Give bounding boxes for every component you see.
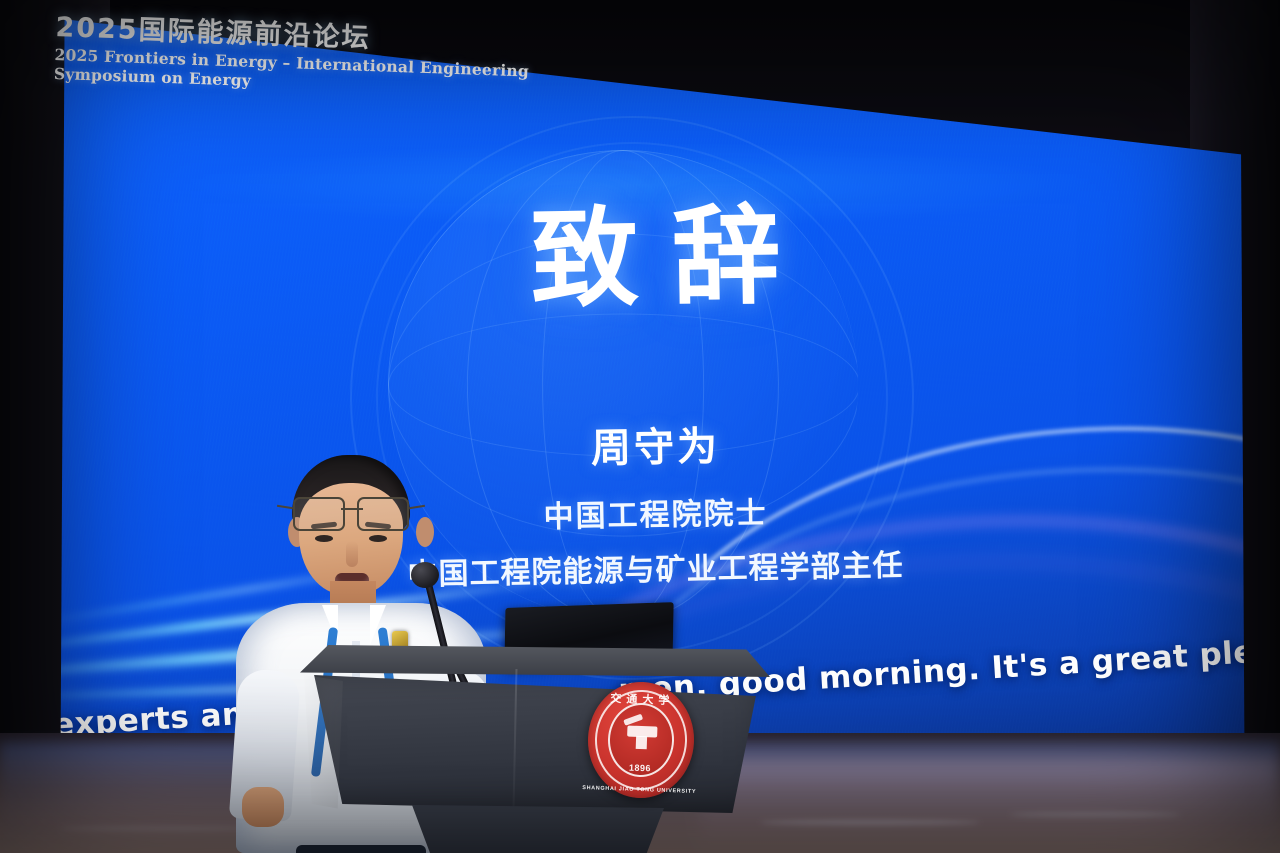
floor-light-streak-1 <box>760 820 980 825</box>
floor-warm-reflection <box>700 758 1280 853</box>
eyeglass-lens-left <box>293 497 345 531</box>
speaker-eye-right <box>369 535 387 542</box>
podium-base <box>388 805 688 853</box>
speaker-hand <box>242 787 284 827</box>
floor-light-streak-2 <box>1010 812 1180 817</box>
photo-scene: 致辞 周守为 中国工程院院士 中国工程院能源与矿业工程学部主任 experts … <box>0 0 1280 853</box>
seal-anvil-hammer-icon <box>621 715 662 750</box>
seal-founding-year: 1896 <box>629 763 651 774</box>
speaker-eye-left <box>315 535 333 542</box>
shanghai-jiao-tong-university-seal-icon: 交通大学 1896 SHANGHAI JIAO TONG UNIVERSITY <box>586 680 696 800</box>
eyeglasses-icon <box>291 497 411 531</box>
eyeglass-bridge <box>341 508 363 510</box>
slide-title: 致辞 <box>58 196 1253 323</box>
eyeglass-temple-left <box>277 505 293 509</box>
eyeglass-temple-right <box>409 505 425 509</box>
podium: 交通大学 1896 SHANGHAI JIAO TONG UNIVERSITY <box>300 645 770 853</box>
eyeglass-lens-right <box>357 497 409 531</box>
speaker-nose <box>346 541 358 567</box>
podium-front-panel <box>300 663 770 813</box>
speaker-ear-right <box>416 517 434 547</box>
microphone-icon <box>411 562 439 588</box>
podium-top-surface <box>300 645 770 677</box>
floor-light-streak-3 <box>60 826 260 831</box>
